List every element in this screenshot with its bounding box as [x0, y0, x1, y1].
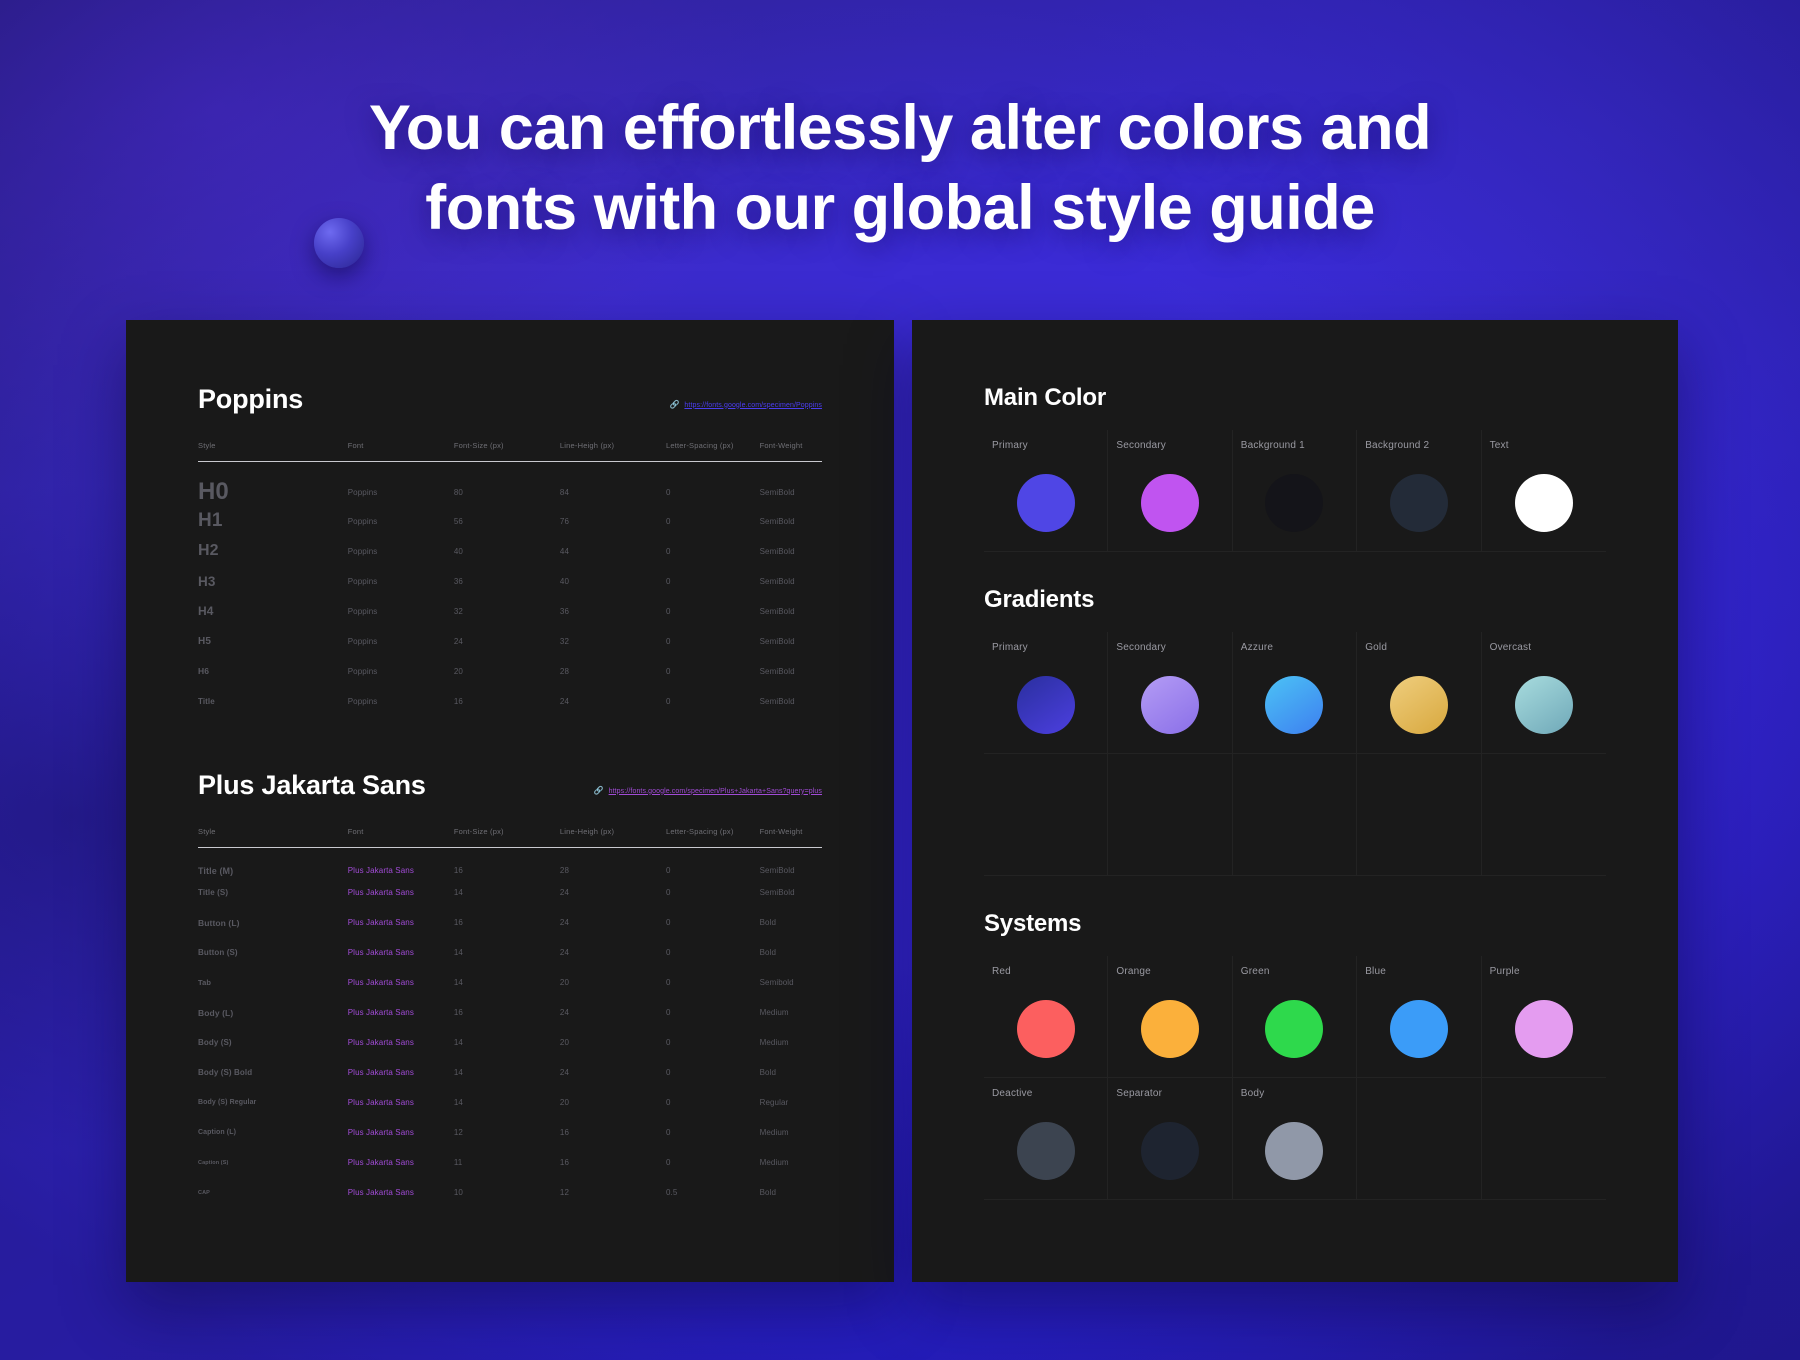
row-font: Poppins — [348, 536, 454, 566]
row-weight: Bold — [760, 1058, 822, 1088]
row-size: 16 — [454, 686, 560, 716]
row-style: Caption (S) — [198, 1148, 348, 1178]
swatch-label: Secondary — [1116, 642, 1231, 653]
row-letter-spacing: 0 — [666, 462, 760, 507]
row-letter-spacing: 0 — [666, 1088, 760, 1118]
row-line-height: 76 — [560, 506, 666, 536]
table-row: Body (S) Regular Plus Jakarta Sans 14 20… — [198, 1088, 822, 1118]
table-row: H1 Poppins 56 76 0 SemiBold — [198, 506, 822, 536]
table-row: H4 Poppins 32 36 0 SemiBold — [198, 596, 822, 626]
row-line-height: 28 — [560, 848, 666, 878]
row-line-height: 24 — [560, 908, 666, 938]
typography-panel: Poppins 🔗 https://fonts.google.com/speci… — [126, 320, 894, 1282]
swatch-dot — [1390, 676, 1448, 734]
row-font: Plus Jakarta Sans — [348, 1058, 454, 1088]
col-font-weight: Font-Weight — [760, 441, 822, 462]
swatch-dot — [1141, 474, 1199, 532]
row-letter-spacing: 0 — [666, 968, 760, 998]
row-weight: Medium — [760, 1028, 822, 1058]
row-weight: Semibold — [760, 968, 822, 998]
row-style: H3 — [198, 566, 348, 596]
row-line-height: 84 — [560, 462, 666, 507]
row-style: H0 — [198, 462, 348, 507]
table-row: H6 Poppins 20 28 0 SemiBold — [198, 656, 822, 686]
row-size: 16 — [454, 848, 560, 878]
color-section-title: Main Color — [984, 384, 1606, 412]
swatch-cell-empty — [984, 754, 1108, 876]
table-header-plus-jakarta-sans: Style Font Font-Size (px) Line-Heigh (px… — [198, 827, 822, 848]
row-size: 14 — [454, 938, 560, 968]
row-size: 24 — [454, 626, 560, 656]
link-icon: 🔗 — [669, 401, 679, 409]
row-letter-spacing: 0 — [666, 1148, 760, 1178]
table-row: H5 Poppins 24 32 0 SemiBold — [198, 626, 822, 656]
swatch-blue[interactable]: Blue — [1357, 956, 1481, 1078]
swatch-body[interactable]: Body — [1233, 1078, 1357, 1200]
col-letter-spacing: Letter-Spacing (px) — [666, 827, 760, 848]
swatch-azzure[interactable]: Azzure — [1233, 632, 1357, 754]
row-letter-spacing: 0 — [666, 656, 760, 686]
row-size: 10 — [454, 1178, 560, 1208]
col-line-height: Line-Heigh (px) — [560, 441, 666, 462]
row-size: 14 — [454, 1058, 560, 1088]
row-letter-spacing: 0 — [666, 1058, 760, 1088]
row-font: Poppins — [348, 596, 454, 626]
row-font: Plus Jakarta Sans — [348, 908, 454, 938]
font-link-url-poppins[interactable]: https://fonts.google.com/specimen/Poppin… — [684, 402, 822, 409]
row-letter-spacing: 0 — [666, 1118, 760, 1148]
row-letter-spacing: 0 — [666, 878, 760, 908]
row-font: Poppins — [348, 506, 454, 536]
typography-table-poppins: Style Font Font-Size (px) Line-Heigh (px… — [198, 441, 822, 716]
row-font: Poppins — [348, 566, 454, 596]
table-row: Body (L) Plus Jakarta Sans 16 24 0 Mediu… — [198, 998, 822, 1028]
row-weight: SemiBold — [760, 848, 822, 878]
swatch-secondary[interactable]: Secondary — [1108, 632, 1232, 754]
row-weight: SemiBold — [760, 686, 822, 716]
swatch-dot — [1265, 676, 1323, 734]
row-line-height: 28 — [560, 656, 666, 686]
color-section-main-color: Main ColorPrimarySecondaryBackground 1Ba… — [984, 384, 1606, 552]
page-title: You can effortlessly alter colors and fo… — [0, 88, 1800, 248]
row-size: 80 — [454, 462, 560, 507]
row-line-height: 32 — [560, 626, 666, 656]
font-name-poppins: Poppins — [198, 384, 303, 415]
row-font: Poppins — [348, 656, 454, 686]
color-section-gradients: GradientsPrimarySecondaryAzzureGoldOverc… — [984, 586, 1606, 876]
row-font: Plus Jakarta Sans — [348, 1118, 454, 1148]
row-font: Plus Jakarta Sans — [348, 1178, 454, 1208]
swatch-dot — [1265, 1000, 1323, 1058]
color-section-systems: SystemsRedOrangeGreenBluePurpleDeactiveS… — [984, 910, 1606, 1200]
row-size: 11 — [454, 1148, 560, 1178]
row-size: 14 — [454, 968, 560, 998]
swatch-dot — [1141, 676, 1199, 734]
row-weight: SemiBold — [760, 566, 822, 596]
row-line-height: 44 — [560, 536, 666, 566]
row-style: CAP — [198, 1178, 348, 1208]
swatch-label: Primary — [992, 642, 1107, 653]
swatch-dot — [1017, 1000, 1075, 1058]
swatch-dot — [1390, 474, 1448, 532]
swatch-label: Azzure — [1241, 642, 1356, 653]
row-size: 14 — [454, 1028, 560, 1058]
row-line-height: 24 — [560, 686, 666, 716]
swatch-dot — [1515, 1000, 1573, 1058]
col-style: Style — [198, 441, 348, 462]
row-weight: SemiBold — [760, 506, 822, 536]
font-link-url-plus-jakarta-sans[interactable]: https://fonts.google.com/specimen/Plus+J… — [609, 788, 822, 795]
font-name-plus-jakarta-sans: Plus Jakarta Sans — [198, 770, 426, 801]
row-size: 14 — [454, 1088, 560, 1118]
row-style: H2 — [198, 536, 348, 566]
row-size: 32 — [454, 596, 560, 626]
row-line-height: 24 — [560, 1058, 666, 1088]
row-line-height: 12 — [560, 1178, 666, 1208]
colors-panel: Main ColorPrimarySecondaryBackground 1Ba… — [912, 320, 1678, 1282]
swatch-secondary[interactable]: Secondary — [1108, 430, 1232, 552]
swatch-grid: RedOrangeGreenBluePurpleDeactiveSeparato… — [984, 956, 1606, 1200]
table-row: Button (L) Plus Jakarta Sans 16 24 0 Bol… — [198, 908, 822, 938]
swatch-label: Deactive — [992, 1088, 1107, 1099]
font-block-header-plus-jakarta-sans: Plus Jakarta Sans 🔗 https://fonts.google… — [198, 770, 822, 801]
col-style: Style — [198, 827, 348, 848]
swatch-label: Gold — [1365, 642, 1480, 653]
row-style: Button (L) — [198, 908, 348, 938]
row-style: Body (S) Regular — [198, 1088, 348, 1118]
table-body-plus-jakarta-sans: Title (M) Plus Jakarta Sans 16 28 0 Semi… — [198, 848, 822, 1208]
col-line-height: Line-Heigh (px) — [560, 827, 666, 848]
row-line-height: 20 — [560, 1028, 666, 1058]
row-letter-spacing: 0 — [666, 938, 760, 968]
swatch-grid: PrimarySecondaryBackground 1Background 2… — [984, 430, 1606, 552]
table-row: Button (S) Plus Jakarta Sans 14 24 0 Bol… — [198, 938, 822, 968]
row-font: Plus Jakarta Sans — [348, 878, 454, 908]
font-link-poppins[interactable]: 🔗 https://fonts.google.com/specimen/Popp… — [669, 401, 822, 409]
table-row: Tab Plus Jakarta Sans 14 20 0 Semibold — [198, 968, 822, 998]
table-row: Caption (S) Plus Jakarta Sans 11 16 0 Me… — [198, 1148, 822, 1178]
row-style: H4 — [198, 596, 348, 626]
swatch-orange[interactable]: Orange — [1108, 956, 1232, 1078]
swatch-deactive[interactable]: Deactive — [984, 1078, 1108, 1200]
row-style: H1 — [198, 506, 348, 536]
row-line-height: 16 — [560, 1148, 666, 1178]
row-letter-spacing: 0 — [666, 908, 760, 938]
row-style: Caption (L) — [198, 1118, 348, 1148]
row-letter-spacing: 0 — [666, 626, 760, 656]
row-size: 36 — [454, 566, 560, 596]
font-link-plus-jakarta-sans[interactable]: 🔗 https://fonts.google.com/specimen/Plus… — [594, 787, 822, 795]
col-font-size: Font-Size (px) — [454, 827, 560, 848]
swatch-label: Overcast — [1490, 642, 1606, 653]
row-style: Button (S) — [198, 938, 348, 968]
table-body-poppins: H0 Poppins 80 84 0 SemiBold H1 Poppins 5… — [198, 462, 822, 717]
swatch-dot — [1515, 676, 1573, 734]
table-header-poppins: Style Font Font-Size (px) Line-Heigh (px… — [198, 441, 822, 462]
row-weight: SemiBold — [760, 462, 822, 507]
swatch-label: Body — [1241, 1088, 1356, 1099]
row-line-height: 20 — [560, 968, 666, 998]
col-font: Font — [348, 827, 454, 848]
swatch-cell-empty — [1357, 1078, 1481, 1200]
row-line-height: 16 — [560, 1118, 666, 1148]
row-letter-spacing: 0 — [666, 596, 760, 626]
swatch-dot — [1017, 474, 1075, 532]
row-font: Poppins — [348, 626, 454, 656]
swatch-dot — [1515, 474, 1573, 532]
swatch-label: Blue — [1365, 966, 1480, 977]
swatch-label: Orange — [1116, 966, 1231, 977]
row-font: Plus Jakarta Sans — [348, 968, 454, 998]
swatch-dot — [1141, 1122, 1199, 1180]
row-style: Body (S) — [198, 1028, 348, 1058]
row-font: Plus Jakarta Sans — [348, 1148, 454, 1178]
row-weight: SemiBold — [760, 626, 822, 656]
row-weight: Medium — [760, 998, 822, 1028]
swatch-cell-empty — [1482, 754, 1606, 876]
col-letter-spacing: Letter-Spacing (px) — [666, 441, 760, 462]
row-style: Body (S) Bold — [198, 1058, 348, 1088]
row-size: 14 — [454, 878, 560, 908]
row-font: Plus Jakarta Sans — [348, 998, 454, 1028]
swatch-purple[interactable]: Purple — [1482, 956, 1606, 1078]
row-weight: Bold — [760, 908, 822, 938]
table-header-row: Style Font Font-Size (px) Line-Heigh (px… — [198, 441, 822, 462]
row-style: Tab — [198, 968, 348, 998]
swatch-cell-empty — [1482, 1078, 1606, 1200]
typography-table-plus-jakarta-sans: Style Font Font-Size (px) Line-Heigh (px… — [198, 827, 822, 1208]
row-line-height: 24 — [560, 878, 666, 908]
font-block-header-poppins: Poppins 🔗 https://fonts.google.com/speci… — [198, 384, 822, 415]
table-row: Title (S) Plus Jakarta Sans 14 24 0 Semi… — [198, 878, 822, 908]
swatch-grid: PrimarySecondaryAzzureGoldOvercast — [984, 632, 1606, 876]
swatch-green[interactable]: Green — [1233, 956, 1357, 1078]
swatch-primary[interactable]: Primary — [984, 430, 1108, 552]
table-row: Title (M) Plus Jakarta Sans 16 28 0 Semi… — [198, 848, 822, 878]
swatch-label: Red — [992, 966, 1107, 977]
swatch-gold[interactable]: Gold — [1357, 632, 1481, 754]
swatch-dot — [1265, 474, 1323, 532]
table-row: Title Poppins 16 24 0 SemiBold — [198, 686, 822, 716]
row-font: Plus Jakarta Sans — [348, 1088, 454, 1118]
row-weight: Bold — [760, 938, 822, 968]
row-line-height: 20 — [560, 1088, 666, 1118]
row-size: 16 — [454, 998, 560, 1028]
table-row: Caption (L) Plus Jakarta Sans 12 16 0 Me… — [198, 1118, 822, 1148]
row-weight: SemiBold — [760, 656, 822, 686]
swatch-red[interactable]: Red — [984, 956, 1108, 1078]
row-weight: Regular — [760, 1088, 822, 1118]
swatch-dot — [1390, 1000, 1448, 1058]
swatch-dot — [1017, 1122, 1075, 1180]
row-style: H6 — [198, 656, 348, 686]
swatch-cell-empty — [1108, 754, 1232, 876]
row-line-height: 40 — [560, 566, 666, 596]
colors-sections: Main ColorPrimarySecondaryBackground 1Ba… — [912, 320, 1678, 1200]
row-font: Poppins — [348, 686, 454, 716]
swatch-cell-empty — [1357, 754, 1481, 876]
swatch-cell-empty — [1233, 754, 1357, 876]
swatch-dot — [1017, 676, 1075, 734]
table-row: Body (S) Plus Jakarta Sans 14 20 0 Mediu… — [198, 1028, 822, 1058]
page-title-line-1: You can effortlessly alter colors and — [0, 88, 1800, 168]
row-size: 16 — [454, 908, 560, 938]
swatch-label: Purple — [1490, 966, 1606, 977]
row-letter-spacing: 0 — [666, 848, 760, 878]
swatch-label: Background 2 — [1365, 440, 1480, 451]
row-size: 20 — [454, 656, 560, 686]
row-weight: Medium — [760, 1118, 822, 1148]
col-font: Font — [348, 441, 454, 462]
row-style: Title — [198, 686, 348, 716]
col-font-weight: Font-Weight — [760, 827, 822, 848]
row-letter-spacing: 0 — [666, 566, 760, 596]
row-letter-spacing: 0 — [666, 536, 760, 566]
row-line-height: 24 — [560, 998, 666, 1028]
row-style: Title (S) — [198, 878, 348, 908]
page-title-line-2: fonts with our global style guide — [0, 168, 1800, 248]
row-weight: SemiBold — [760, 536, 822, 566]
link-icon: 🔗 — [594, 787, 604, 795]
section-spacer — [198, 716, 822, 770]
swatch-label: Primary — [992, 440, 1107, 451]
swatch-background-1[interactable]: Background 1 — [1233, 430, 1357, 552]
swatch-dot — [1141, 1000, 1199, 1058]
row-weight: SemiBold — [760, 878, 822, 908]
swatch-separator[interactable]: Separator — [1108, 1078, 1232, 1200]
row-font: Plus Jakarta Sans — [348, 1028, 454, 1058]
row-letter-spacing: 0 — [666, 998, 760, 1028]
table-row: CAP Plus Jakarta Sans 10 12 0.5 Bold — [198, 1178, 822, 1208]
row-size: 56 — [454, 506, 560, 536]
swatch-background-2[interactable]: Background 2 — [1357, 430, 1481, 552]
swatch-text[interactable]: Text — [1482, 430, 1606, 552]
row-size: 40 — [454, 536, 560, 566]
row-weight: SemiBold — [760, 596, 822, 626]
row-font: Plus Jakarta Sans — [348, 938, 454, 968]
row-letter-spacing: 0 — [666, 506, 760, 536]
color-section-title: Systems — [984, 910, 1606, 938]
row-weight: Medium — [760, 1148, 822, 1178]
row-line-height: 24 — [560, 938, 666, 968]
row-size: 12 — [454, 1118, 560, 1148]
swatch-label: Text — [1490, 440, 1606, 451]
swatch-primary[interactable]: Primary — [984, 632, 1108, 754]
row-style: Body (L) — [198, 998, 348, 1028]
table-row: Body (S) Bold Plus Jakarta Sans 14 24 0 … — [198, 1058, 822, 1088]
swatch-label: Secondary — [1116, 440, 1231, 451]
table-row: H0 Poppins 80 84 0 SemiBold — [198, 462, 822, 507]
swatch-overcast[interactable]: Overcast — [1482, 632, 1606, 754]
row-font: Plus Jakarta Sans — [348, 848, 454, 878]
col-font-size: Font-Size (px) — [454, 441, 560, 462]
table-row: H3 Poppins 36 40 0 SemiBold — [198, 566, 822, 596]
swatch-label: Separator — [1116, 1088, 1231, 1099]
row-weight: Bold — [760, 1178, 822, 1208]
swatch-label: Background 1 — [1241, 440, 1356, 451]
row-font: Poppins — [348, 462, 454, 507]
row-letter-spacing: 0 — [666, 1028, 760, 1058]
row-line-height: 36 — [560, 596, 666, 626]
table-header-row: Style Font Font-Size (px) Line-Heigh (px… — [198, 827, 822, 848]
row-style: Title (M) — [198, 848, 348, 878]
row-letter-spacing: 0.5 — [666, 1178, 760, 1208]
row-letter-spacing: 0 — [666, 686, 760, 716]
swatch-label: Green — [1241, 966, 1356, 977]
color-section-title: Gradients — [984, 586, 1606, 614]
row-style: H5 — [198, 626, 348, 656]
swatch-dot — [1265, 1122, 1323, 1180]
table-row: H2 Poppins 40 44 0 SemiBold — [198, 536, 822, 566]
